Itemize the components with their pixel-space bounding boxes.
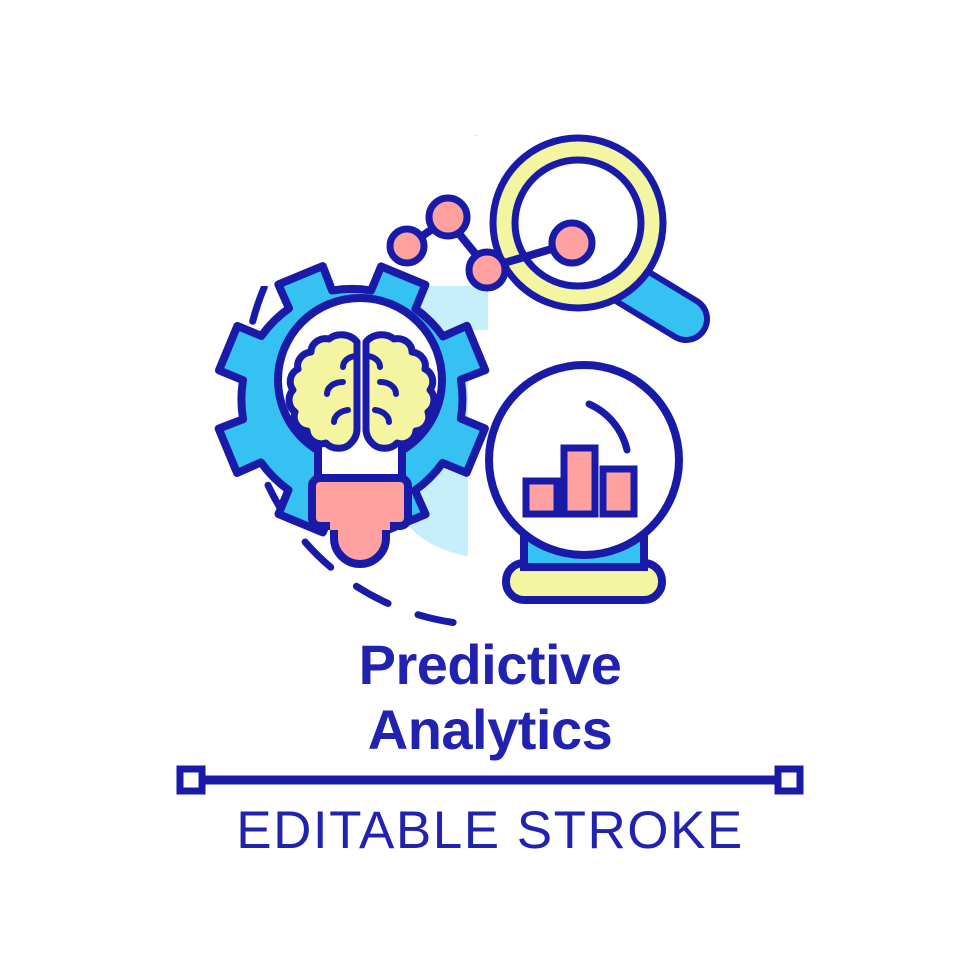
- network-node: [469, 252, 505, 288]
- editable-stroke-caption: EDITABLE STROKE: [0, 800, 980, 861]
- crystal-ball-with-bar-chart: [489, 365, 679, 600]
- bar-3: [603, 469, 634, 514]
- bulb-collar: [312, 478, 408, 526]
- network-node: [390, 229, 424, 263]
- ruler-handle-left: [180, 769, 202, 791]
- bar-1: [526, 481, 557, 514]
- icon-canvas: Predictive Analytics EDITABLE STROKE: [0, 0, 980, 980]
- network-node: [429, 198, 467, 236]
- network-node-target: [552, 223, 592, 263]
- bar-2: [564, 448, 595, 514]
- concept-title: Predictive Analytics: [0, 633, 980, 763]
- bulb-cap: [334, 526, 386, 564]
- editable-stroke-ruler: [180, 769, 800, 791]
- ruler-handle-right: [778, 769, 800, 791]
